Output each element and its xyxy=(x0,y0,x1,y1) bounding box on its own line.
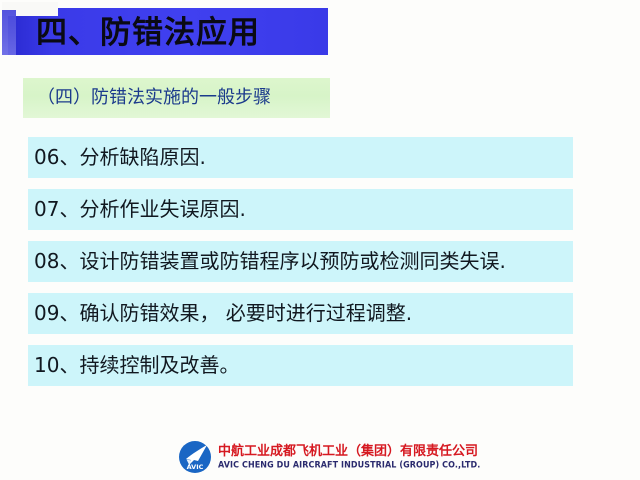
svg-text:AVIC: AVIC xyxy=(187,463,204,471)
step-label: 10、持续控制及改善。 xyxy=(34,350,573,380)
footer-company-names: 中航工业成都飞机工业（集团）有限责任公司 AVIC CHENG DU AIRCR… xyxy=(218,445,480,469)
subtitle-label: （四）防错法实施的一般步骤 xyxy=(37,78,271,118)
steps-list: 06、分析缺陷原因. 07、分析作业失误原因. 08、设计防错装置或防错程序以预… xyxy=(28,137,573,397)
list-item: 08、设计防错装置或防错程序以预防或检测同类失误. xyxy=(28,241,573,282)
step-label: 09、确认防错效果， 必要时进行过程调整. xyxy=(34,298,573,328)
list-item: 07、分析作业失误原因. xyxy=(28,189,573,230)
subtitle-box: （四）防错法实施的一般步骤 xyxy=(23,78,330,118)
footer-logo-block: AVIC 中航工业成都飞机工业（集团）有限责任公司 AVIC CHENG DU … xyxy=(178,440,480,474)
slide-title-banner: 四、防错法应用 xyxy=(8,8,328,55)
list-item: 10、持续控制及改善。 xyxy=(28,345,573,386)
step-label: 08、设计防错装置或防错程序以预防或检测同类失误. xyxy=(34,246,573,276)
step-label: 06、分析缺陷原因. xyxy=(34,142,573,172)
list-item: 06、分析缺陷原因. xyxy=(28,137,573,178)
avic-logo-icon: AVIC xyxy=(178,440,212,474)
company-name-cn: 中航工业成都飞机工业（集团）有限责任公司 xyxy=(218,445,480,458)
list-item: 09、确认防错效果， 必要时进行过程调整. xyxy=(28,293,573,334)
step-label: 07、分析作业失误原因. xyxy=(34,194,573,224)
slide-canvas: 四、防错法应用 （四）防错法实施的一般步骤 06、分析缺陷原因. 07、分析作业… xyxy=(0,0,640,480)
company-name-en: AVIC CHENG DU AIRCRAFT INDUSTRIAL (GROUP… xyxy=(218,461,480,469)
page-title: 四、防错法应用 xyxy=(36,11,260,55)
